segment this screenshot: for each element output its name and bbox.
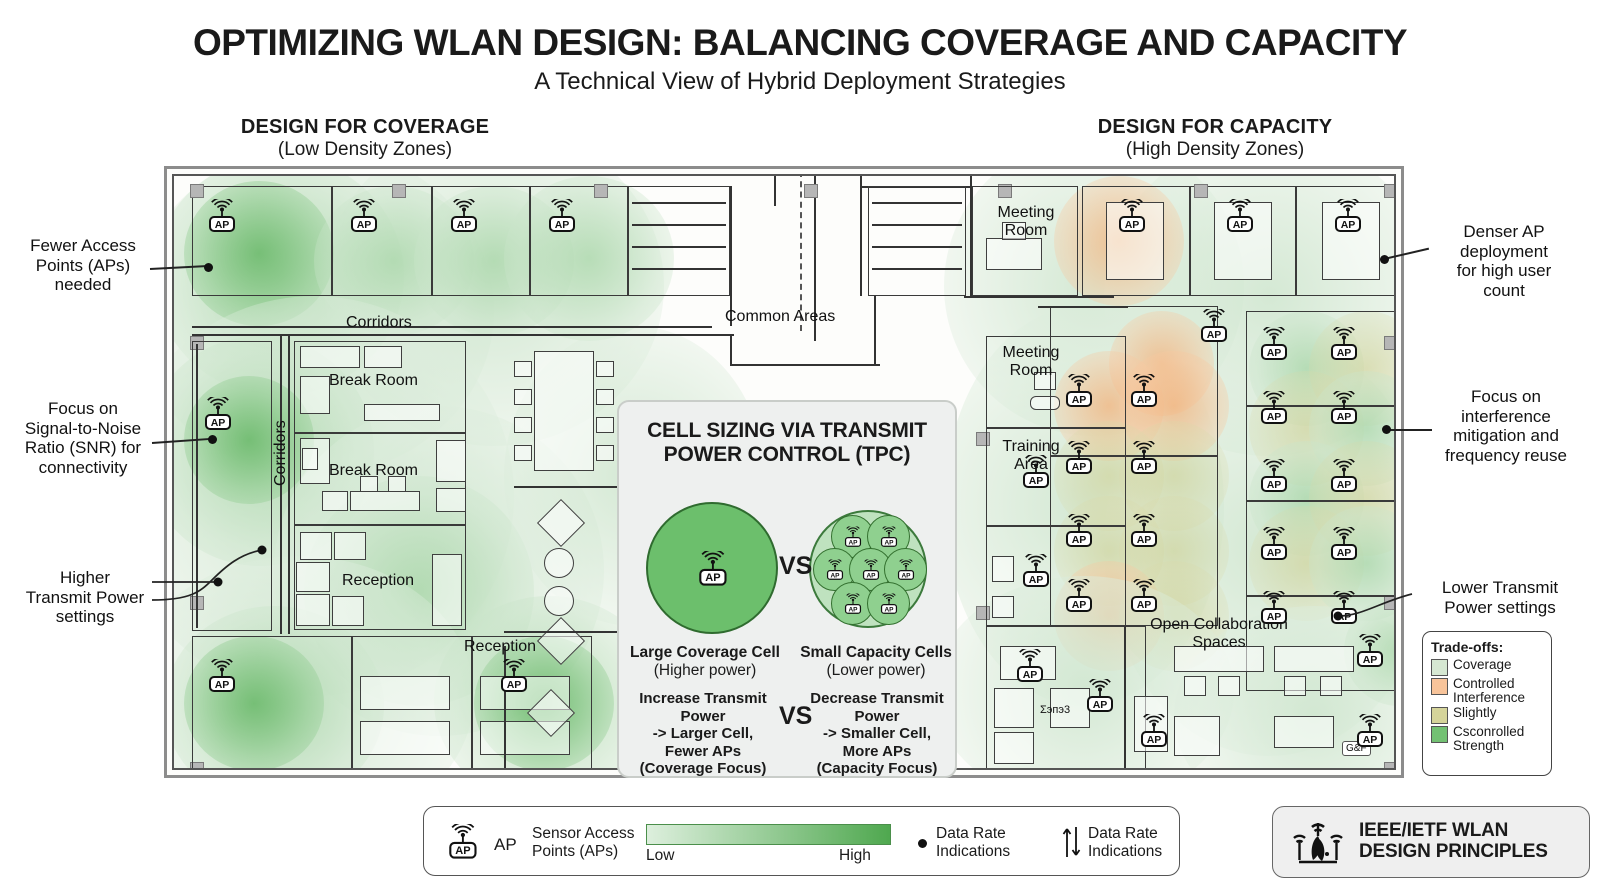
tpc-block-decrease: Decrease Transmit Power -> Smaller Cell,… — [801, 690, 953, 778]
section-header-coverage: DESIGN FOR COVERAGE (Low Density Zones) — [205, 116, 525, 161]
ap-icon: AP — [894, 559, 916, 580]
brand-line-2: DESIGN PRINCIPLES — [1359, 842, 1548, 863]
ap-marker[interactable]: AP — [1256, 459, 1292, 493]
svg-text:AP: AP — [211, 417, 226, 429]
ap-marker[interactable]: AP — [1061, 374, 1097, 408]
svg-text:AP: AP — [1341, 219, 1356, 231]
leader-curve — [1336, 580, 1426, 630]
svg-text:AP: AP — [357, 219, 372, 231]
ap-marker[interactable]: AP — [1114, 199, 1150, 233]
legend-datarate-dot: Data Rate Indications — [936, 825, 1010, 861]
legend-datarate-arrow: Data Rate Indications — [1088, 825, 1162, 861]
svg-text:AP: AP — [1125, 219, 1140, 231]
label-zone-marker: Σэпэ3 — [1040, 704, 1070, 716]
gradient-high-label: High — [839, 847, 871, 865]
annotation-denser-ap: Denser AP deployment for high user count — [1424, 222, 1584, 301]
svg-text:AP: AP — [1072, 599, 1087, 611]
ap-icon: AP — [694, 551, 730, 585]
ap-marker[interactable]: AP — [1326, 327, 1362, 361]
svg-text:AP: AP — [215, 219, 230, 231]
caption-small-cells-sub: (Lower power) — [826, 662, 925, 679]
ap-icon: AP — [444, 824, 486, 862]
svg-text:AP: AP — [1072, 534, 1087, 546]
swatch-slightly — [1431, 707, 1448, 724]
small-cell: AP — [867, 582, 910, 625]
page-title: OPTIMIZING WLAN DESIGN: BALANCING COVERA… — [0, 22, 1600, 64]
svg-text:AP: AP — [457, 219, 472, 231]
svg-text:AP: AP — [1147, 734, 1162, 746]
svg-text:AP: AP — [1072, 394, 1087, 406]
annotation-lower-tx: Lower Transmit Power settings — [1414, 578, 1586, 617]
ap-marker[interactable]: AP — [1136, 714, 1172, 748]
tpc-panel: CELL SIZING VIA TRANSMIT POWER CONTROL (… — [617, 400, 957, 778]
svg-text:AP: AP — [884, 539, 894, 546]
ap-icon: AP — [841, 593, 863, 614]
svg-text:AP: AP — [1337, 479, 1352, 491]
ap-marker[interactable]: AP — [200, 397, 236, 431]
ap-marker[interactable]: AP — [1196, 309, 1232, 343]
svg-text:AP: AP — [1137, 394, 1152, 406]
svg-text:AP: AP — [1029, 475, 1044, 487]
svg-text:AP: AP — [1267, 347, 1282, 359]
leader-dot — [204, 263, 213, 272]
ap-marker[interactable]: AP — [1256, 391, 1292, 425]
svg-text:AP: AP — [455, 845, 470, 857]
signal-gradient-bar — [646, 824, 891, 845]
svg-text:AP: AP — [1267, 611, 1282, 623]
svg-text:AP: AP — [1337, 347, 1352, 359]
bottom-legend: AP AP Sensor Access Points (APs) Low Hig… — [423, 806, 1180, 876]
gradient-low-label: Low — [646, 847, 674, 865]
ap-icon: AP — [877, 593, 899, 614]
brand-line-1: IEEE/IETF WLAN — [1359, 821, 1548, 842]
label-reception-1: Reception — [342, 572, 414, 590]
small-capacity-cells: AP AP AP AP AP AP AP — [809, 510, 927, 628]
label-break-room-2: Break Room — [329, 462, 418, 480]
tradeoff-item: Controlled Interference — [1431, 677, 1543, 705]
ap-marker[interactable]: AP — [1082, 679, 1118, 713]
ap-marker[interactable]: AP — [1126, 374, 1162, 408]
ap-marker[interactable]: AP — [1061, 579, 1097, 613]
ap-icon: AP — [841, 526, 863, 547]
annotation-interference: Focus on interference mitigation and fre… — [1420, 387, 1592, 466]
ap-marker[interactable]: AP — [1018, 455, 1054, 489]
svg-text:AP: AP — [848, 539, 858, 546]
ap-marker[interactable]: AP — [346, 199, 382, 233]
annotation-snr-focus: Focus on Signal-to-Noise Ratio (SNR) for… — [8, 399, 158, 478]
ap-marker[interactable]: AP — [1061, 514, 1097, 548]
caption-small-cells: Small Capacity Cells — [800, 644, 952, 661]
svg-text:AP: AP — [1233, 219, 1248, 231]
vs-label-cells: VS — [779, 552, 812, 581]
swatch-csconrolled-strength — [1431, 726, 1448, 743]
ap-marker[interactable]: AP — [1330, 199, 1366, 233]
tradeoffs-title: Trade-offs: — [1431, 639, 1543, 655]
ap-marker[interactable]: AP — [1222, 199, 1258, 233]
ap-marker[interactable]: AP — [1012, 649, 1048, 683]
svg-text:AP: AP — [1363, 734, 1378, 746]
ap-marker[interactable]: AP — [446, 199, 482, 233]
ap-marker[interactable]: AP — [1126, 514, 1162, 548]
leader-dot — [1382, 425, 1391, 434]
ap-marker[interactable]: AP — [1326, 459, 1362, 493]
tradeoff-label: Controlled Interference — [1453, 677, 1525, 705]
label-meeting-room-1: Meeting Room — [987, 204, 1065, 240]
ap-marker[interactable]: AP — [1326, 391, 1362, 425]
legend-ap-text: Sensor Access Points (APs) — [532, 825, 635, 861]
ap-marker[interactable]: AP — [1352, 634, 1388, 668]
datarate-arrows-icon — [1062, 823, 1082, 861]
section-heading-coverage: DESIGN FOR COVERAGE — [205, 116, 525, 139]
svg-text:AP: AP — [1363, 654, 1378, 666]
svg-text:AP: AP — [507, 679, 522, 691]
tradeoff-item: Coverage — [1431, 658, 1543, 676]
ap-marker[interactable]: AP — [1326, 527, 1362, 561]
svg-text:AP: AP — [1337, 411, 1352, 423]
ap-marker[interactable]: AP — [204, 659, 240, 693]
label-common-areas: Common Areas — [725, 308, 835, 326]
svg-text:AP: AP — [1072, 461, 1087, 473]
svg-text:AP: AP — [1267, 479, 1282, 491]
svg-text:AP: AP — [848, 606, 858, 613]
brand-badge: IEEE/IETF WLAN DESIGN PRINCIPLES — [1272, 806, 1590, 878]
svg-text:AP: AP — [705, 572, 720, 584]
svg-text:AP: AP — [1137, 599, 1152, 611]
leader-curve — [150, 520, 280, 630]
svg-text:AP: AP — [1337, 547, 1352, 559]
ap-marker[interactable]: AP — [1126, 579, 1162, 613]
ap-marker[interactable]: AP — [204, 199, 240, 233]
tradeoff-item: Slightly — [1431, 706, 1543, 724]
svg-text:AP: AP — [1093, 699, 1108, 711]
tpc-block-increase: Increase Transmit Power -> Larger Cell, … — [627, 690, 779, 778]
caption-large-cell-sub: (Higher power) — [654, 662, 757, 679]
annotation-fewer-aps: Fewer Access Points (APs) needed — [8, 236, 158, 295]
annotation-higher-tx: Higher Transmit Power settings — [10, 568, 160, 627]
ap-icon: AP — [859, 559, 881, 580]
tpc-title: CELL SIZING VIA TRANSMIT POWER CONTROL (… — [619, 419, 955, 468]
ap-marker[interactable]: AP — [1256, 527, 1292, 561]
tradeoff-label: Csconrolled Strength — [1453, 725, 1524, 753]
leader-line — [1386, 429, 1432, 431]
ap-marker[interactable]: AP — [1061, 441, 1097, 475]
leader-dot — [1380, 255, 1389, 264]
svg-text:AP: AP — [1023, 669, 1038, 681]
tradeoff-label: Coverage — [1453, 658, 1512, 672]
label-break-room-1: Break Room — [329, 372, 418, 390]
svg-text:AP: AP — [1137, 534, 1152, 546]
wlan-logo-icon — [1287, 816, 1349, 868]
caption-large-cell: Large Coverage Cell — [630, 644, 780, 661]
ap-marker[interactable]: AP — [1018, 554, 1054, 588]
ap-marker[interactable]: AP — [1126, 441, 1162, 475]
datarate-dot-icon — [918, 839, 927, 848]
svg-text:AP: AP — [1029, 574, 1044, 586]
svg-text:AP: AP — [830, 572, 840, 579]
section-header-capacity: DESIGN FOR CAPACITY (High Density Zones) — [1055, 116, 1375, 161]
label-reception-2: Reception — [464, 638, 536, 656]
tradeoff-label: Slightly — [1453, 706, 1497, 720]
ap-marker[interactable]: AP — [1352, 714, 1388, 748]
swatch-controlled-interference — [1431, 678, 1448, 695]
svg-text:AP: AP — [215, 679, 230, 691]
ap-marker[interactable]: AP — [544, 199, 580, 233]
tradeoff-item: Csconrolled Strength — [1431, 725, 1543, 753]
swatch-coverage — [1431, 659, 1448, 676]
label-corridors-side: Corridors — [272, 420, 290, 486]
svg-text:AP: AP — [1207, 329, 1222, 341]
legend-ap-abbrev: AP — [494, 835, 517, 855]
ap-marker[interactable]: AP — [496, 659, 532, 693]
tradeoffs-legend: Trade-offs: Coverage Controlled Interfer… — [1422, 631, 1552, 776]
svg-text:AP: AP — [884, 606, 894, 613]
office-room — [192, 636, 352, 770]
ap-marker[interactable]: AP — [1256, 327, 1292, 361]
label-corridors-top: Corridors — [346, 314, 412, 332]
svg-text:AP: AP — [1267, 411, 1282, 423]
section-sub-capacity: (High Density Zones) — [1055, 139, 1375, 161]
ap-marker[interactable]: AP — [1256, 591, 1292, 625]
ap-icon: AP — [877, 526, 899, 547]
label-meeting-room-2: Meeting Room — [992, 344, 1070, 380]
svg-text:AP: AP — [1267, 547, 1282, 559]
page-subtitle: A Technical View of Hybrid Deployment St… — [0, 68, 1600, 96]
leader-dot — [208, 435, 217, 444]
ap-icon: AP — [823, 559, 845, 580]
svg-text:AP: AP — [555, 219, 570, 231]
large-coverage-cell: AP — [646, 502, 778, 634]
svg-text:AP: AP — [901, 572, 911, 579]
section-sub-coverage: (Low Density Zones) — [205, 139, 525, 161]
svg-text:AP: AP — [866, 572, 876, 579]
svg-text:AP: AP — [1137, 461, 1152, 473]
section-heading-capacity: DESIGN FOR CAPACITY — [1055, 116, 1375, 139]
